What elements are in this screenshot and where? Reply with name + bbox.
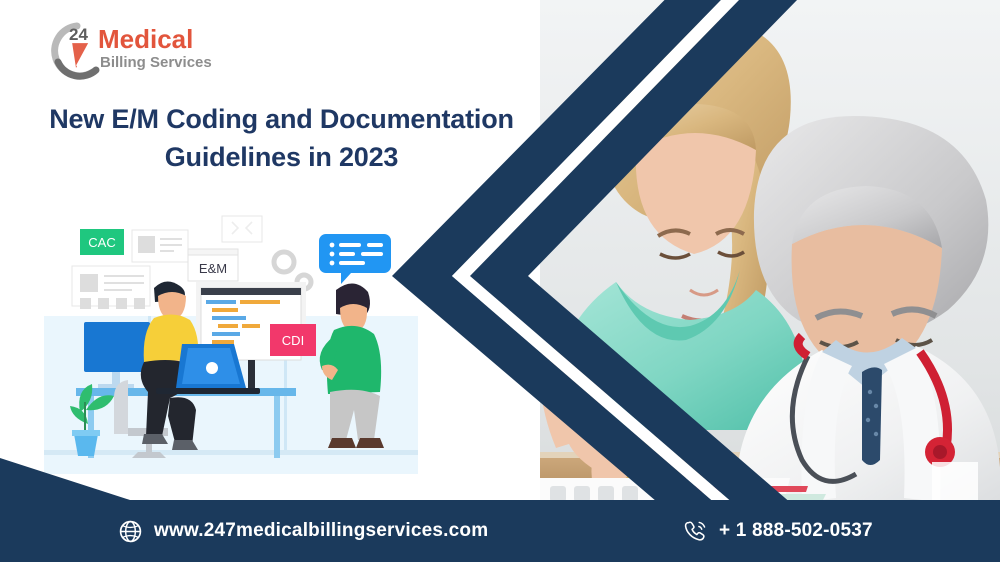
brand-logo[interactable]: 24 Medical Billing Services	[36, 18, 216, 80]
tag-cac: CAC	[80, 229, 124, 255]
footer-website[interactable]: www.247medicalbillingservices.com	[118, 500, 488, 562]
logo-line1: Medical	[98, 24, 193, 54]
phone-ring-icon	[683, 519, 708, 544]
headline-line-2: Guidelines in 2023	[14, 138, 549, 176]
illustration: CAC E&M	[36, 212, 426, 484]
globe-icon	[118, 519, 143, 544]
logo-line2: Billing Services	[100, 54, 212, 71]
tag-cdi: CDI	[270, 324, 316, 356]
footer-phone[interactable]: + 1 888-502-0537	[683, 500, 873, 562]
page-title: New E/M Coding and Documentation Guideli…	[14, 100, 549, 177]
phone-text: + 1 888-502-0537	[719, 520, 873, 542]
marketing-banner: 24 Medical Billing Services New E/M Codi…	[0, 0, 1000, 562]
hero-photo	[540, 0, 1000, 502]
headline-line-1: New E/M Coding and Documentation	[14, 100, 549, 138]
patient-chart	[540, 478, 826, 502]
website-text: www.247medicalbillingservices.com	[154, 520, 488, 542]
tag-em-label: E&M	[199, 261, 227, 276]
tag-cac-label: CAC	[88, 235, 115, 250]
tag-em: E&M	[188, 249, 238, 281]
footer-bar: www.247medicalbillingservices.com + 1 88…	[0, 500, 1000, 562]
svg-text:24: 24	[69, 25, 88, 44]
tag-cdi-label: CDI	[282, 333, 304, 348]
